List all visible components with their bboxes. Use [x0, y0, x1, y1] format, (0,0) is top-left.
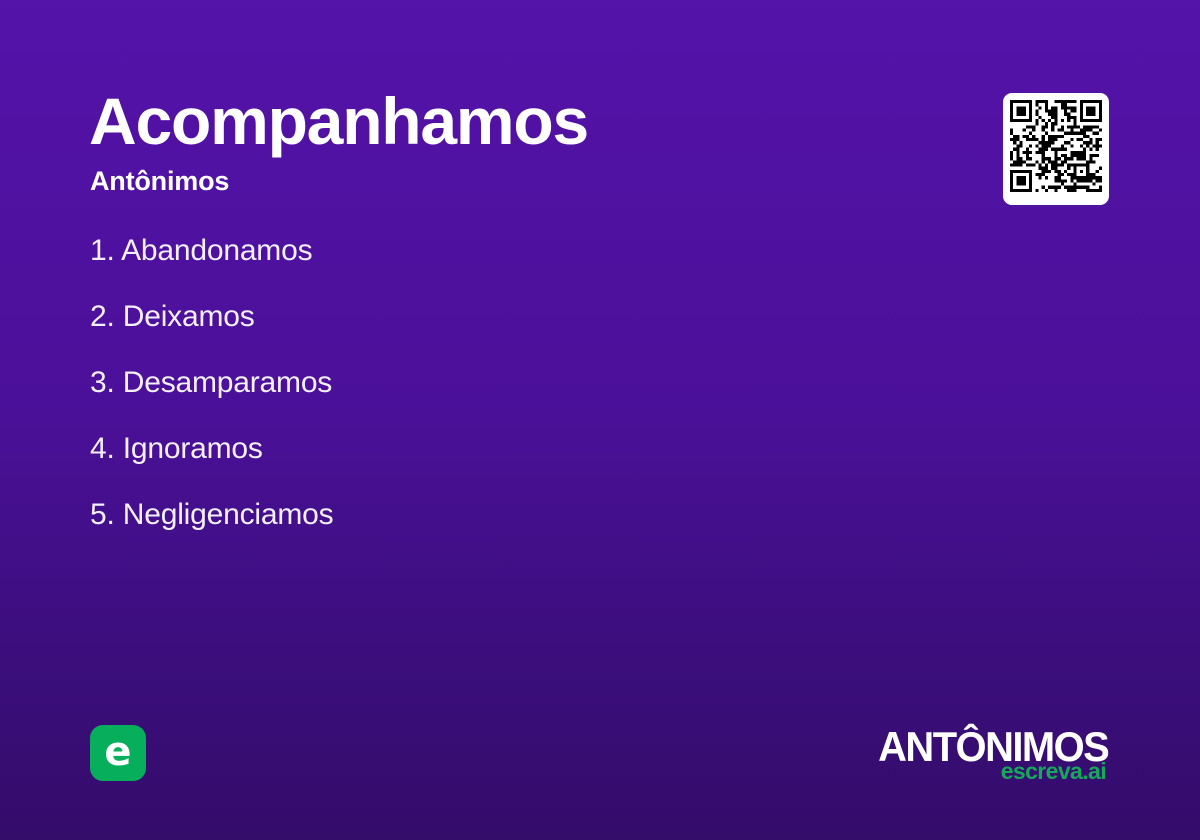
list-item: 2. Deixamos: [90, 302, 333, 332]
list-item-number: 5.: [90, 498, 115, 531]
list-item-word: Ignoramos: [123, 432, 263, 465]
qr-code[interactable]: [1003, 93, 1109, 205]
list-item: 5. Negligenciamos: [90, 500, 333, 530]
list-item-number: 4.: [90, 432, 115, 465]
escreva-logo-badge[interactable]: e: [90, 725, 146, 781]
page-subtitle: Antônimos: [90, 168, 229, 195]
list-item-word: Negligenciamos: [123, 498, 334, 531]
list-item-number: 1.: [90, 234, 115, 267]
badge-letter: e: [90, 732, 146, 772]
list-item-word: Desamparamos: [123, 366, 332, 399]
list-item-number: 3.: [90, 366, 115, 399]
page-title: Acompanhamos: [89, 88, 588, 154]
brand-lockup: ANTÔNIMOS escreva.ai: [858, 726, 1108, 788]
list-item: 3. Desamparamos: [90, 368, 333, 398]
list-item: 4. Ignoramos: [90, 434, 333, 464]
qr-code-icon: [1010, 100, 1102, 192]
brand-site: escreva.ai: [1001, 760, 1106, 783]
antonym-list: 1. Abandonamos 2. Deixamos 3. Desamparam…: [90, 236, 333, 566]
list-item-word: Abandonamos: [121, 234, 312, 267]
list-item: 1. Abandonamos: [90, 236, 333, 266]
list-item-word: Deixamos: [123, 300, 255, 333]
list-item-number: 2.: [90, 300, 115, 333]
